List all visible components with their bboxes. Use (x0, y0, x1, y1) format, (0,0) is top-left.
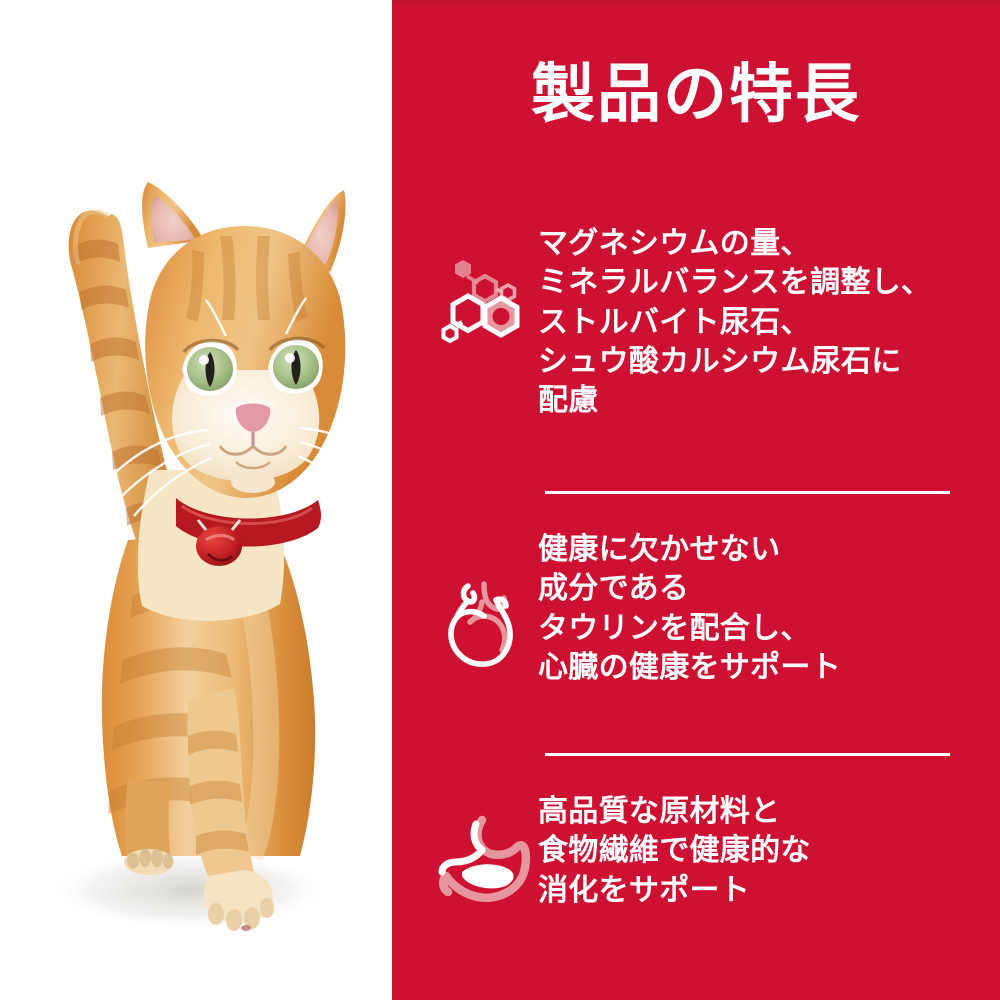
heart-icon (440, 572, 532, 672)
feature-text-magnesium: マグネシウムの量、 ミネラルバランスを調整し、 ストルバイト尿石、 シュウ酸カル… (538, 222, 1000, 420)
panel-top-edge (392, 0, 1000, 6)
feature-line: 健康に欠かせない (538, 530, 1000, 569)
feature-line: 食物繊維で健康的な (538, 831, 1000, 870)
molecule-icon (438, 252, 534, 348)
cat-photo-panel (0, 0, 392, 1000)
features-panel: 製品の特長 (392, 0, 1000, 1000)
feature-line: 心臓の健康をサポート (538, 648, 1000, 687)
feature-item-taurine: 健康に欠かせない 成分である タウリンを配合し、 心臓の健康をサポート (434, 528, 1000, 716)
product-features-banner: 製品の特長 (0, 0, 1000, 1000)
cat-shadow (50, 850, 330, 930)
feature-icon-wrap (434, 790, 538, 930)
feature-line: 成分である (538, 569, 1000, 608)
cat-photo (0, 0, 392, 1000)
feature-line: タウリンを配合し、 (538, 609, 1000, 648)
feature-icon-wrap (434, 222, 538, 378)
feature-line: 配慮 (538, 381, 1000, 420)
feature-item-digestion: 高品質な原材料と 食物繊維で健康的な 消化をサポート (434, 790, 1000, 930)
cat-rear-leg (124, 780, 174, 875)
feature-text-digestion: 高品質な原材料と 食物繊維で健康的な 消化をサポート (538, 790, 1000, 910)
feature-line: 高品質な原材料と (538, 792, 1000, 831)
feature-icon-wrap (434, 528, 538, 716)
feature-line: ストルバイト尿石、 (538, 303, 1000, 342)
stomach-icon (436, 814, 536, 906)
section-divider (545, 753, 950, 756)
feature-line: マグネシウムの量、 (538, 224, 1000, 263)
feature-text-taurine: 健康に欠かせない 成分である タウリンを配合し、 心臓の健康をサポート (538, 528, 1000, 687)
feature-item-magnesium: マグネシウムの量、 ミネラルバランスを調整し、 ストルバイト尿石、 シュウ酸カル… (434, 222, 1000, 420)
section-divider (545, 491, 950, 494)
feature-line: シュウ酸カルシウム尿石に (538, 342, 1000, 381)
page-title: 製品の特長 (392, 62, 1000, 126)
feature-line: 消化をサポート (538, 871, 1000, 910)
feature-line: ミネラルバランスを調整し、 (538, 263, 1000, 302)
